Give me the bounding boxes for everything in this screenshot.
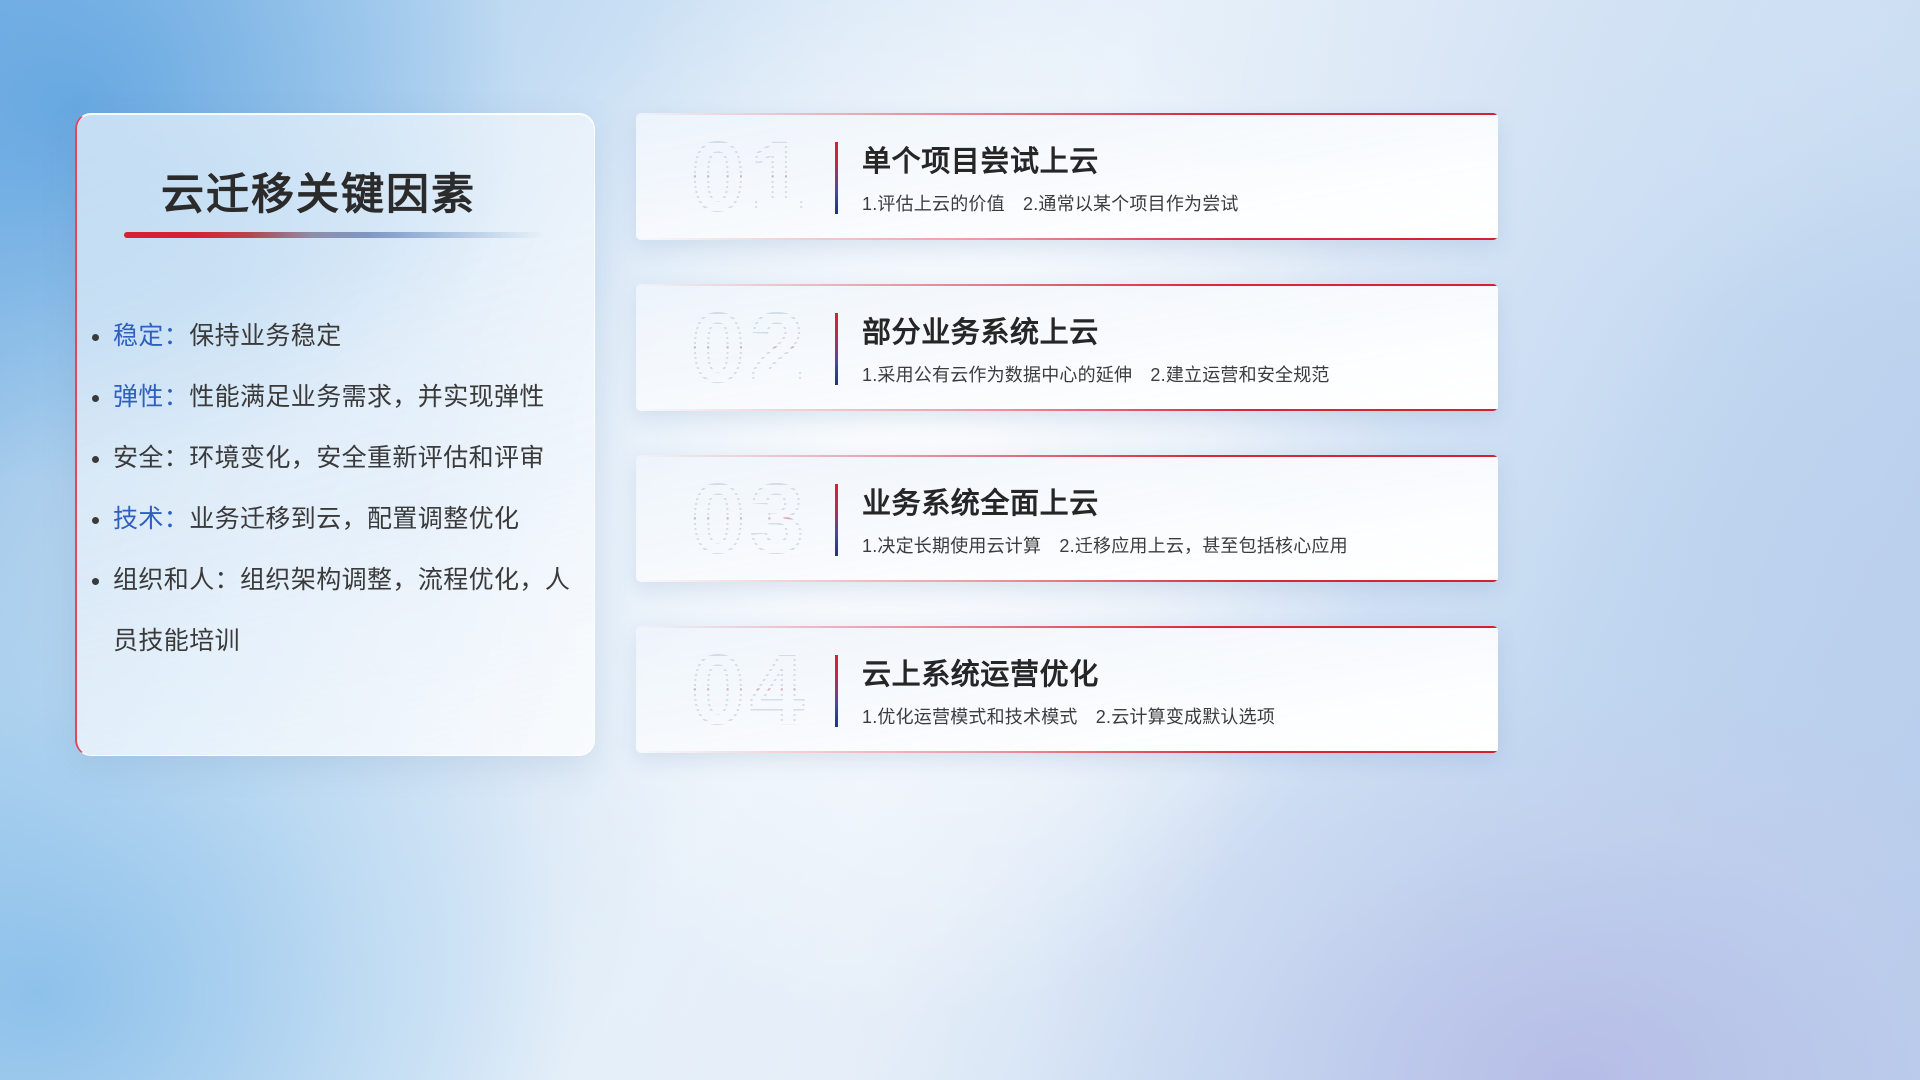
list-item-label: 技术： [113, 505, 189, 533]
stage-number-watermark-tint: 02 [660, 292, 840, 404]
list-item-text: 保持业务稳定 [189, 322, 341, 350]
stage-card[interactable]: 01 01 单个项目尝试上云 1.评估上云的价值 2.通常以某个项目作为尝试 [636, 113, 1498, 240]
key-factors-list: 稳定：保持业务稳定 弹性：性能满足业务需求，并实现弹性 安全：环境变化，安全重新… [113, 306, 573, 672]
stage-number-watermark-tint: 04 [660, 634, 840, 746]
stage-title: 业务系统全面上云 [862, 480, 1099, 522]
list-item: 弹性：性能满足业务需求，并实现弹性 [113, 367, 573, 428]
stage-card[interactable]: 02 02 部分业务系统上云 1.采用公有云作为数据中心的延伸 2.建立运营和安… [636, 284, 1498, 411]
stage-title: 部分业务系统上云 [862, 309, 1099, 351]
list-item-text: 性能满足业务需求，并实现弹性 [189, 383, 545, 411]
stage-card[interactable]: 03 03 业务系统全面上云 1.决定长期使用云计算 2.迁移应用上云，甚至包括… [636, 455, 1498, 582]
stage-description: 1.决定长期使用云计算 2.迁移应用上云，甚至包括核心应用 [862, 532, 1348, 558]
stage-number-watermark-tint: 01 [660, 121, 840, 233]
list-item-label: 安全： [113, 444, 189, 472]
list-item: 稳定：保持业务稳定 [113, 306, 573, 367]
stage-title: 云上系统运营优化 [862, 651, 1099, 693]
stage-number-watermark-tint: 03 [660, 463, 840, 575]
list-item-text: 环境变化，安全重新评估和评审 [189, 444, 545, 472]
title-underline-rule [124, 232, 544, 238]
list-item-label: 组织和人： [113, 566, 240, 594]
stage-description: 1.采用公有云作为数据中心的延伸 2.建立运营和安全规范 [862, 361, 1330, 387]
stage-title: 单个项目尝试上云 [862, 138, 1099, 180]
stage-description: 1.优化运营模式和技术模式 2.云计算变成默认选项 [862, 703, 1275, 729]
stage-card[interactable]: 04 04 云上系统运营优化 1.优化运营模式和技术模式 2.云计算变成默认选项 [636, 626, 1498, 753]
accent-bar [835, 484, 838, 556]
list-item-label: 稳定： [113, 322, 189, 350]
list-item-text: 业务迁移到云，配置调整优化 [189, 505, 519, 533]
list-item: 组织和人：组织架构调整，流程优化，人员技能培训 [113, 550, 573, 672]
key-factors-panel: 云迁移关键因素 稳定：保持业务稳定 弹性：性能满足业务需求，并实现弹性 安全：环… [75, 113, 595, 756]
stage-description: 1.评估上云的价值 2.通常以某个项目作为尝试 [862, 190, 1239, 216]
list-item: 安全：环境变化，安全重新评估和评审 [113, 428, 573, 489]
list-item: 技术：业务迁移到云，配置调整优化 [113, 489, 573, 550]
accent-bar [835, 313, 838, 385]
accent-bar [835, 142, 838, 214]
list-item-label: 弹性： [113, 383, 189, 411]
accent-bar [835, 655, 838, 727]
page-title: 云迁移关键因素 [161, 160, 476, 222]
